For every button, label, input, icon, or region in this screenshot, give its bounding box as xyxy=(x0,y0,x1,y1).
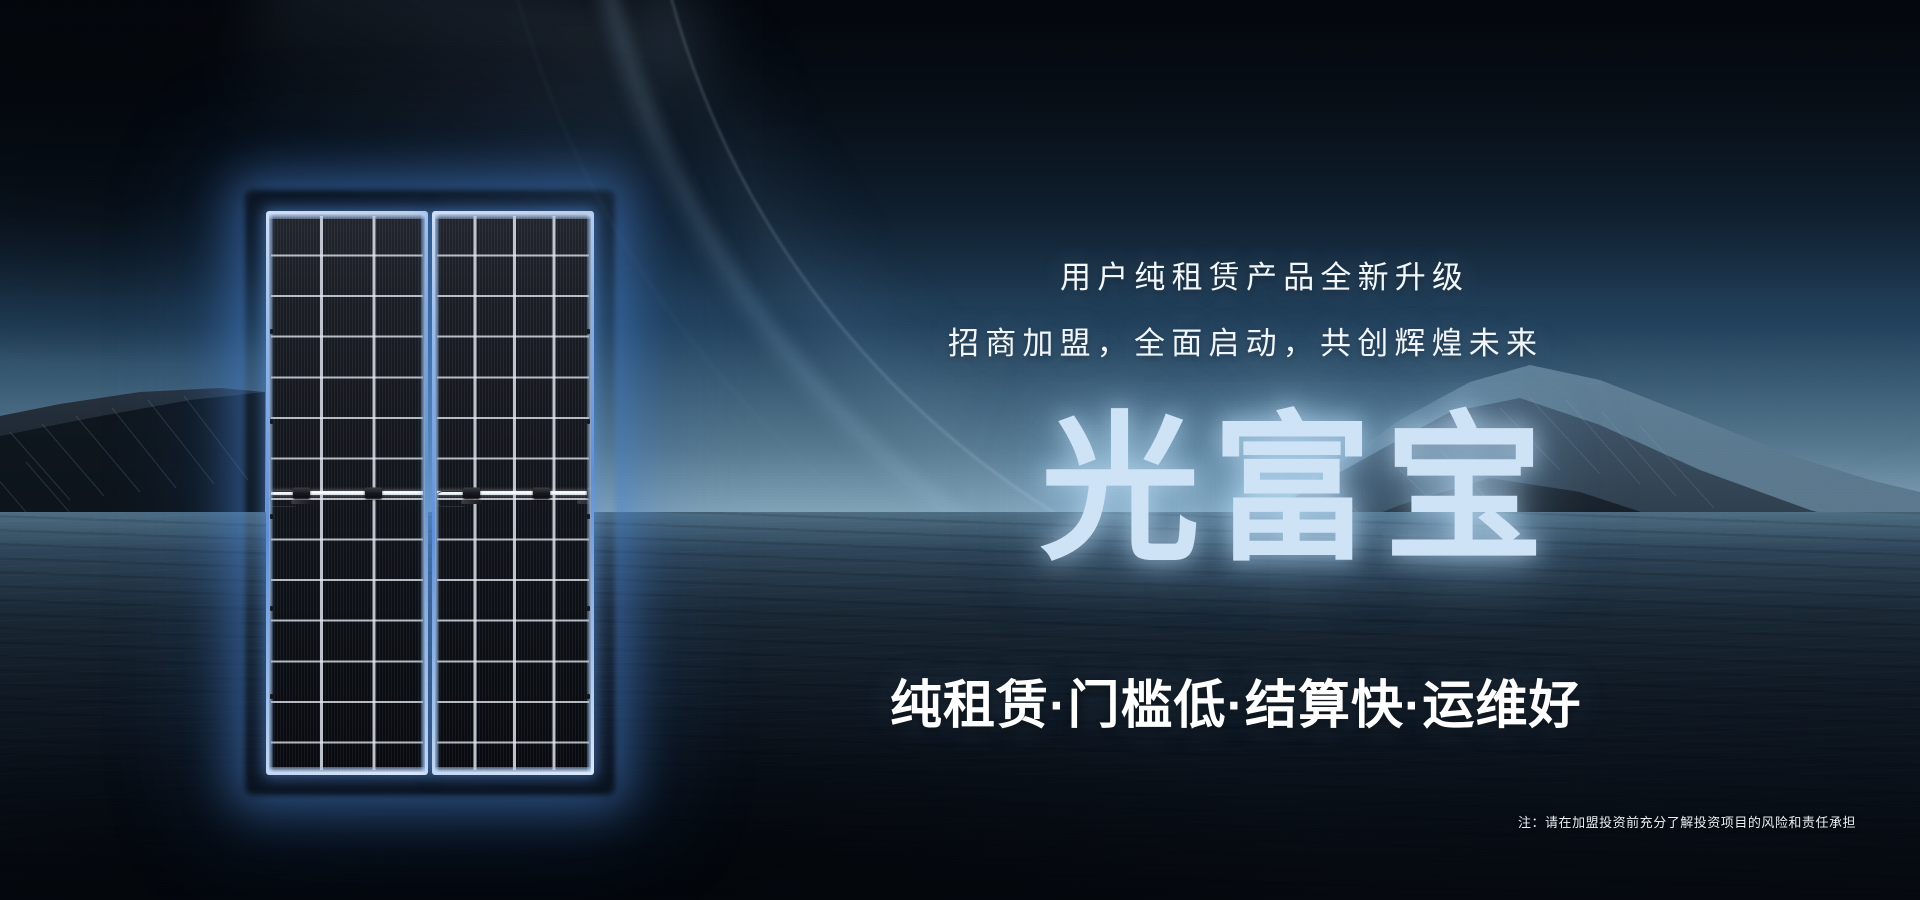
footnote-disclaimer: 注：请在加盟投资前充分了解投资项目的风险和责任承担 xyxy=(1518,812,1856,831)
copy-block: 用户纯租赁产品全新升级 招商加盟，全面启动，共创辉煌未来 光富宝 纯租赁·门槛低… xyxy=(0,0,1920,900)
headline-line-1: 用户纯租赁产品全新升级 xyxy=(1060,252,1469,297)
tagline: 纯租赁·门槛低·结算快·运维好 xyxy=(890,680,1582,732)
poster-canvas: 用户纯租赁产品全新升级 招商加盟，全面启动，共创辉煌未来 光富宝 纯租赁·门槛低… xyxy=(0,0,1920,900)
brand-name: 光富宝 xyxy=(1040,410,1556,570)
headline-line-2: 招商加盟，全面启动，共创辉煌未来 xyxy=(948,318,1543,363)
